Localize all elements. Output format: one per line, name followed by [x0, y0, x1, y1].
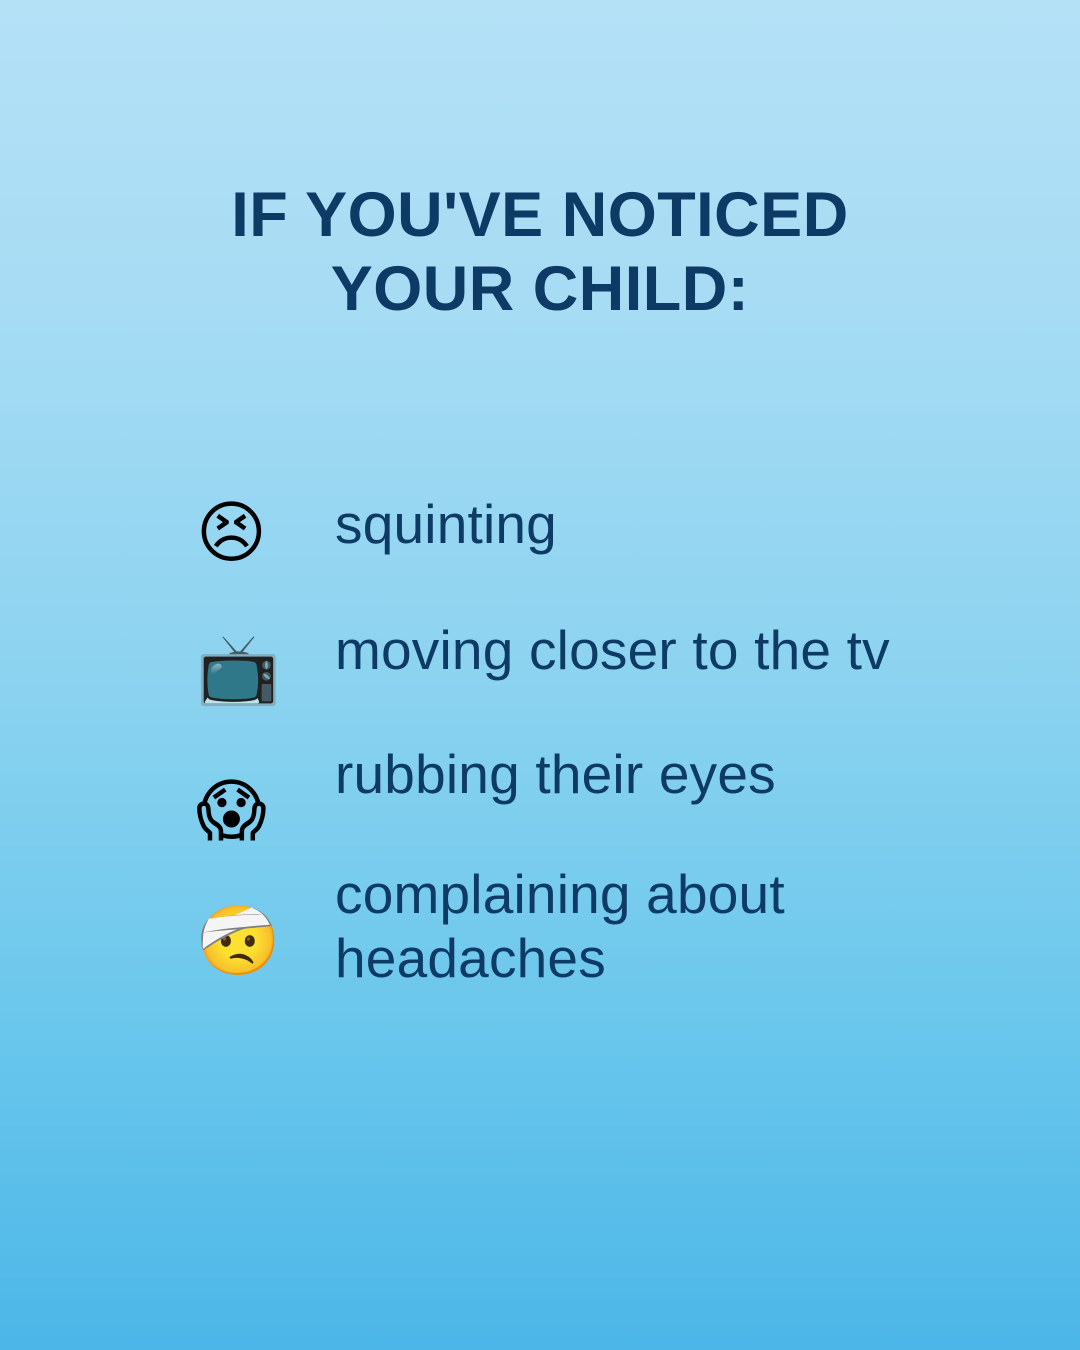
- list-item-label: moving closer to the tv: [335, 618, 1016, 682]
- television-emoji: 📺: [196, 636, 272, 704]
- list-item-label: rubbing their eyes: [335, 742, 1016, 806]
- list-item: 😱 rubbing their eyes: [196, 742, 1016, 860]
- page-title: IF YOU'VE NOTICED YOUR CHILD:: [0, 178, 1080, 326]
- list-item-label: squinting: [335, 492, 1016, 556]
- list-item: 📺 moving closer to the tv: [196, 618, 1016, 736]
- symptom-list: 😣 squinting 📺 moving closer to the tv 😱 …: [196, 492, 1016, 990]
- list-item: 🤕 complaining about headaches: [196, 862, 1016, 990]
- list-item: 😣 squinting: [196, 492, 1016, 610]
- face-with-head-bandage-emoji: 🤕: [196, 908, 272, 976]
- poster-canvas: IF YOU'VE NOTICED YOUR CHILD: 😣 squintin…: [0, 0, 1080, 1350]
- list-item-label: complaining about headaches: [335, 862, 1016, 990]
- face-covered-with-hands-emoji: 😱: [196, 778, 272, 846]
- persevering-face-emoji: 😣: [196, 500, 272, 568]
